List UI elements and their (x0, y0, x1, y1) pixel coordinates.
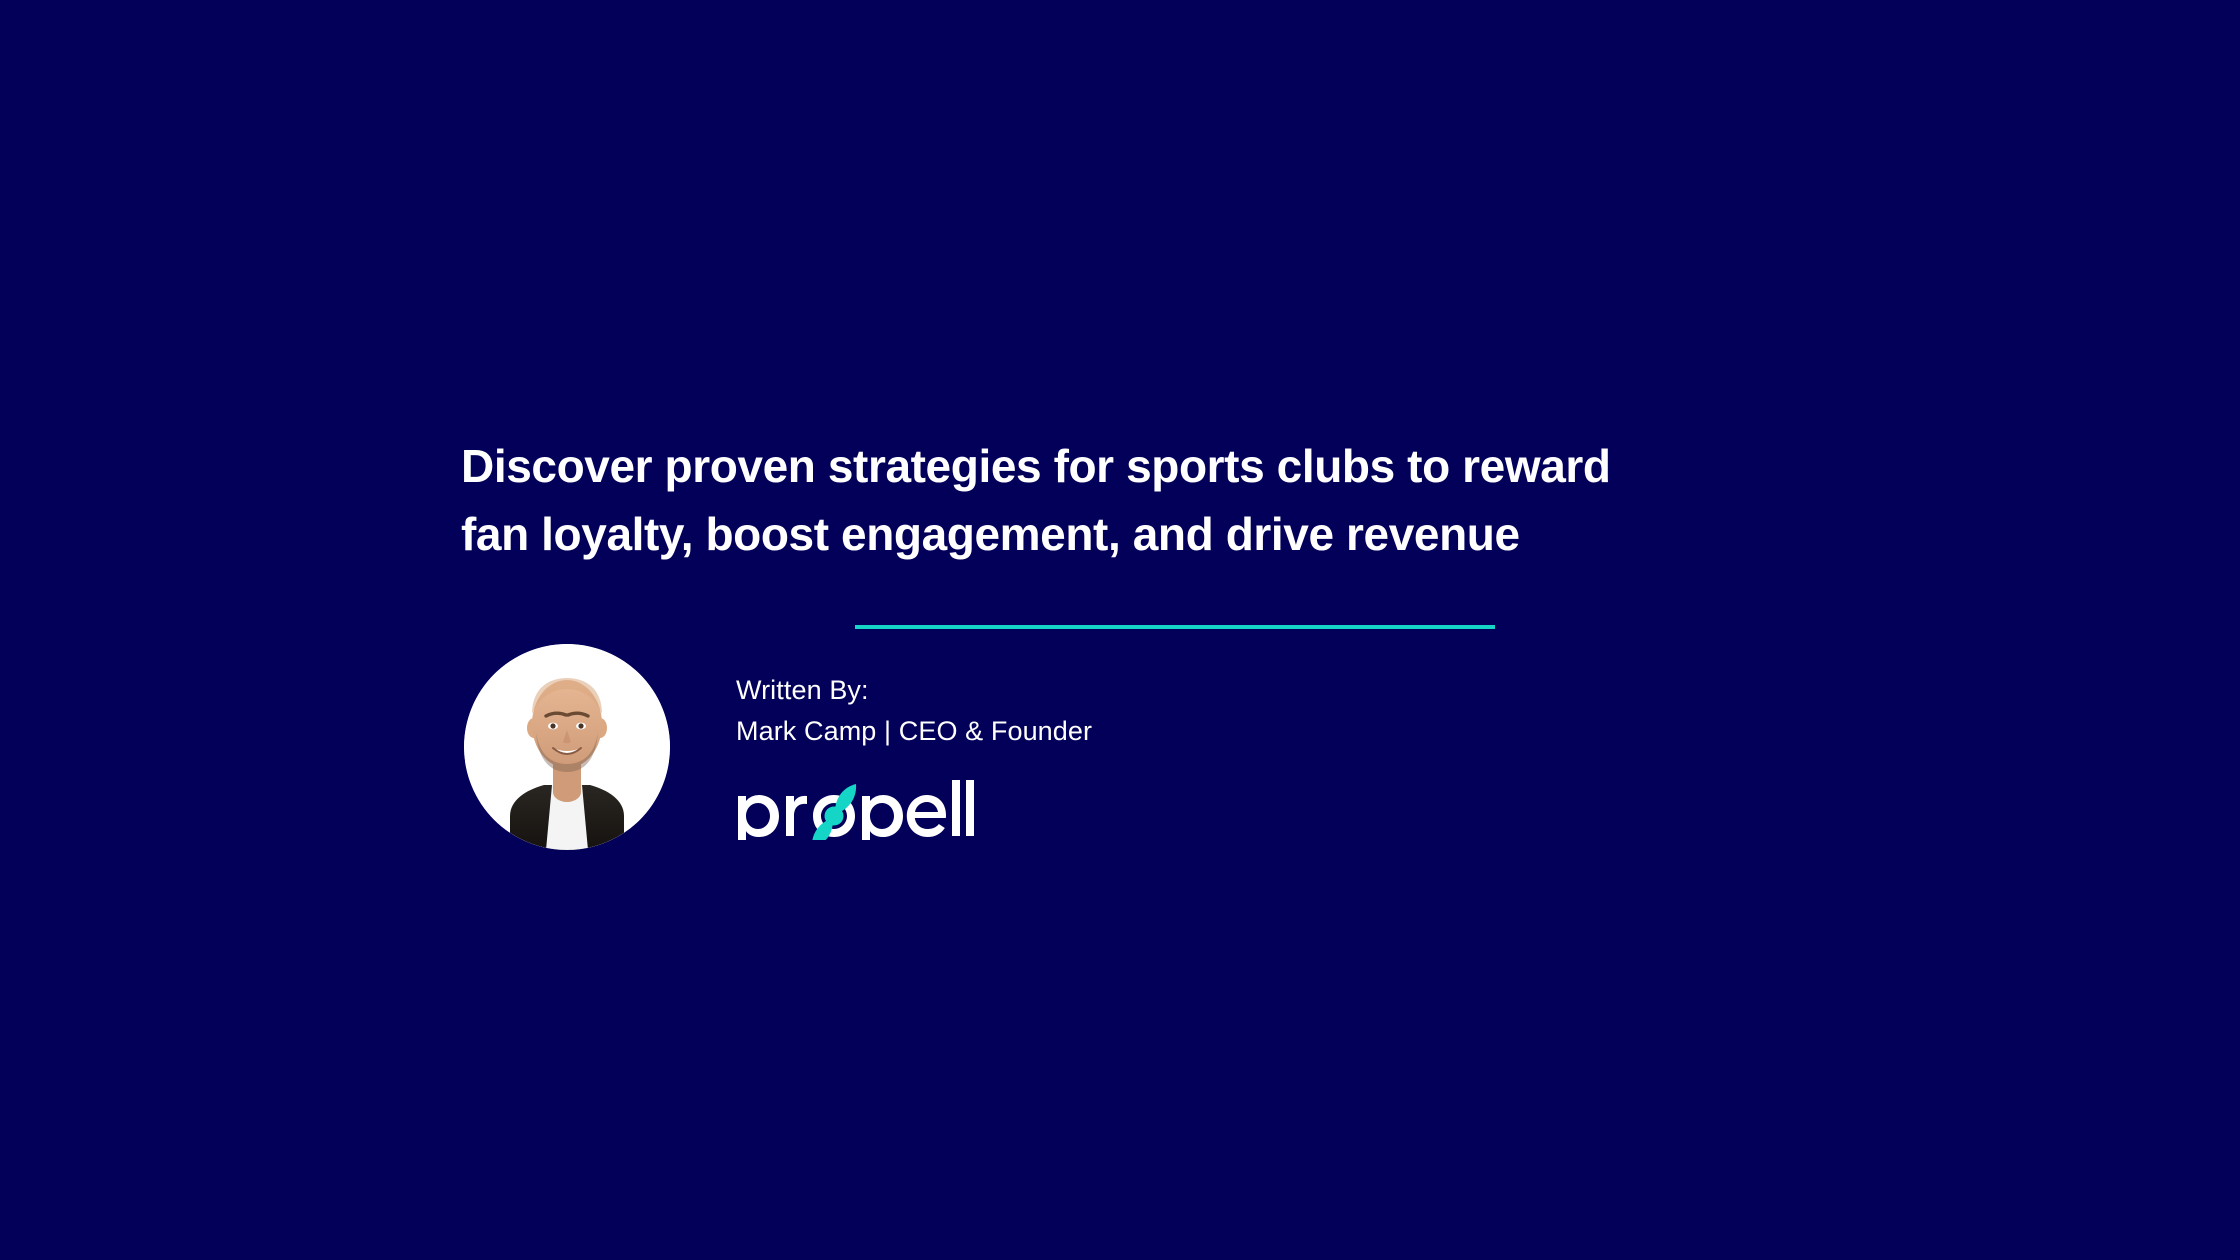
title-slide: Discover proven strategies for sports cl… (0, 0, 2240, 1260)
accent-divider (855, 625, 1495, 629)
byline-label: Written By: (736, 670, 1092, 711)
avatar (464, 644, 670, 850)
propello-logo (734, 778, 984, 840)
headline-line-2: fan loyalty, boost engagement, and drive… (461, 500, 1821, 568)
byline: Written By: Mark Camp | CEO & Founder (736, 670, 1092, 752)
headline-line-1: Discover proven strategies for sports cl… (461, 432, 1821, 500)
page-title: Discover proven strategies for sports cl… (461, 432, 1821, 568)
byline-author: Mark Camp | CEO & Founder (736, 711, 1092, 752)
